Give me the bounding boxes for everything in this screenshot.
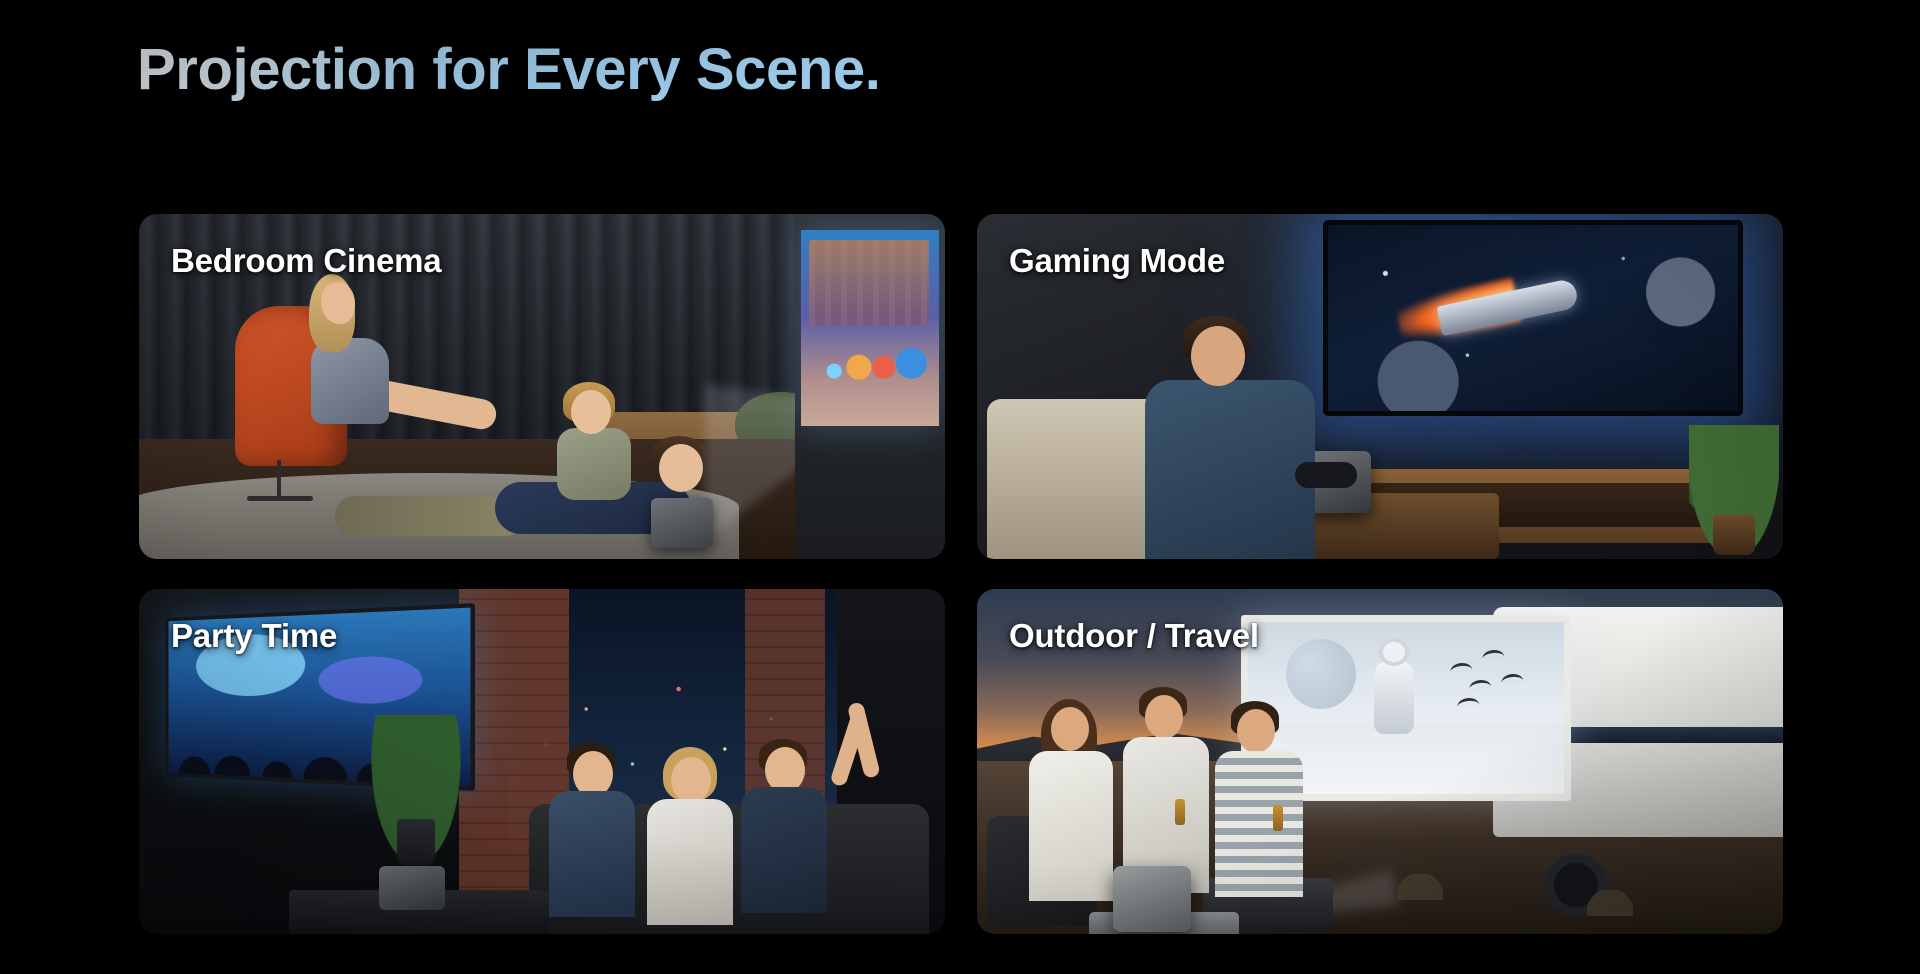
headline-primary: Projection for	[137, 37, 524, 102]
page-title: Projection for Every Scene.	[137, 38, 881, 102]
drink-bottle	[1175, 799, 1185, 825]
scene-card-party-time[interactable]: Party Time	[139, 589, 945, 934]
scene-card-label: Party Time	[171, 617, 337, 655]
bird-icon	[1500, 672, 1523, 682]
person-head	[1237, 709, 1275, 753]
bird-icon	[1456, 697, 1479, 707]
woman-head	[321, 282, 355, 324]
person-body	[549, 791, 635, 917]
game-controller	[1295, 462, 1357, 488]
projected-tv-screen	[1323, 220, 1743, 416]
person-body	[1215, 751, 1303, 897]
scene-card-label: Gaming Mode	[1009, 242, 1225, 280]
man-head	[659, 444, 703, 492]
projector-device	[651, 498, 713, 548]
indoor-palm-plant	[371, 715, 461, 865]
desert-shrub	[1397, 874, 1443, 900]
gamer-head	[1191, 326, 1245, 386]
person-head	[1145, 695, 1183, 739]
scene-card-bedroom-cinema[interactable]: Bedroom Cinema	[139, 214, 945, 559]
astronaut-figure	[1374, 660, 1414, 734]
headline-accent: Every Scene.	[524, 37, 880, 102]
boy-head	[571, 390, 611, 434]
scene-card-grid: Bedroom Cinema	[139, 214, 1783, 934]
gamer-body	[1145, 380, 1315, 559]
promo-page: Projection for Every Scene.	[0, 0, 1920, 974]
space-game-image	[1328, 225, 1738, 411]
person-head	[671, 757, 711, 803]
projector-device	[1113, 866, 1191, 932]
scene-card-label: Outdoor / Travel	[1009, 617, 1259, 655]
desert-shrub	[1587, 890, 1633, 916]
planet-graphic	[1286, 639, 1356, 709]
projector-device	[379, 866, 445, 910]
scene-card-gaming-mode[interactable]: Gaming Mode	[977, 214, 1783, 559]
boy-body	[557, 428, 631, 500]
armchair-base	[247, 496, 313, 501]
person-head	[1051, 707, 1089, 751]
wall-screen	[795, 214, 945, 559]
bird-icon	[1469, 679, 1492, 689]
bird-icon	[1450, 662, 1473, 672]
bird-icon	[1481, 648, 1504, 658]
person-body	[1029, 751, 1113, 901]
person-body	[647, 799, 733, 925]
drink-bottle	[1273, 805, 1283, 831]
scene-card-label: Bedroom Cinema	[171, 242, 441, 280]
potted-plant	[1689, 425, 1779, 555]
projected-animation-image	[801, 230, 939, 426]
scene-card-outdoor-travel[interactable]: Outdoor / Travel	[977, 589, 1783, 934]
person-body	[741, 787, 827, 913]
armchair-leg	[277, 460, 281, 500]
